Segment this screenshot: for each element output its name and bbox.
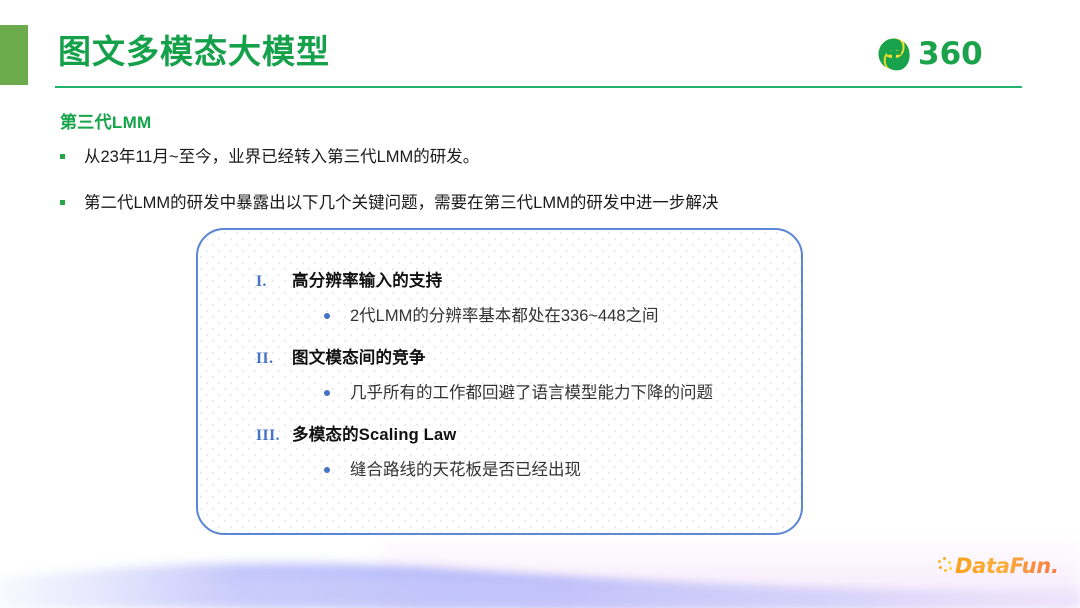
brand-logo-360: 360 (876, 34, 998, 74)
list-item: II. 图文模态间的竞争 几乎所有的工作都回避了语言模型能力下降的问题 (256, 345, 791, 406)
360-circle-plus-icon (876, 36, 912, 72)
round-bullet-icon (324, 390, 330, 396)
round-bullet-icon (324, 467, 330, 473)
list-item: 从23年11月~至今，业界已经转入第三代LMM的研发。 (60, 145, 1000, 169)
list-item: I. 高分辨率输入的支持 2代LMM的分辨率基本都处在336~448之间 (256, 268, 791, 329)
key-issue-label: 多模态的Scaling Law (292, 422, 456, 448)
page-title: 图文多模态大模型 (58, 29, 330, 75)
key-issue-detail-text: 缝合路线的天花板是否已经出现 (350, 457, 581, 483)
key-issue-detail-text: 几乎所有的工作都回避了语言模型能力下降的问题 (350, 380, 713, 406)
section-heading: 第三代LMM (60, 108, 152, 133)
footer-wave-decoration (0, 528, 1080, 608)
title-accent-bar (0, 25, 28, 85)
roman-numeral: III. (256, 427, 292, 445)
round-bullet-icon (324, 313, 330, 319)
bullet-text: 第二代LMM的研发中暴露出以下几个关键问题，需要在第三代LMM的研发中进一步解决 (84, 191, 718, 215)
roman-numeral: I. (256, 273, 292, 291)
roman-numeral: II. (256, 350, 292, 368)
key-issue-heading: I. 高分辨率输入的支持 (256, 268, 791, 294)
key-issues-list: I. 高分辨率输入的支持 2代LMM的分辨率基本都处在336~448之间 II.… (256, 268, 791, 499)
key-issue-detail-text: 2代LMM的分辨率基本都处在336~448之间 (350, 303, 659, 329)
key-issue-heading: III. 多模态的Scaling Law (256, 422, 791, 448)
datafun-logo: DataFun. (938, 553, 1059, 579)
section-bullet-list: 从23年11月~至今，业界已经转入第三代LMM的研发。 第二代LMM的研发中暴露… (60, 145, 1000, 237)
key-issue-label: 高分辨率输入的支持 (292, 268, 442, 294)
bullet-text: 从23年11月~至今，业界已经转入第三代LMM的研发。 (84, 145, 479, 169)
datafun-dots-icon (938, 556, 954, 576)
key-issues-box: I. 高分辨率输入的支持 2代LMM的分辨率基本都处在336~448之间 II.… (196, 228, 803, 535)
datafun-wordmark: DataFun. (955, 554, 1059, 578)
key-issue-detail: 2代LMM的分辨率基本都处在336~448之间 (324, 303, 791, 329)
key-issue-detail: 几乎所有的工作都回避了语言模型能力下降的问题 (324, 380, 791, 406)
key-issue-heading: II. 图文模态间的竞争 (256, 345, 791, 371)
key-issue-detail: 缝合路线的天花板是否已经出现 (324, 457, 791, 483)
square-bullet-icon (60, 154, 65, 159)
title-divider (55, 86, 1022, 88)
list-item: 第二代LMM的研发中暴露出以下几个关键问题，需要在第三代LMM的研发中进一步解决 (60, 191, 1000, 215)
slide-root: 图文多模态大模型 360 第三代LMM 从23年11月~至今，业界已经转入第三代… (0, 0, 1080, 608)
key-issue-label: 图文模态间的竞争 (292, 345, 426, 371)
list-item: III. 多模态的Scaling Law 缝合路线的天花板是否已经出现 (256, 422, 791, 483)
square-bullet-icon (60, 200, 65, 205)
brand-logo-wordmark: 360 (918, 37, 983, 71)
